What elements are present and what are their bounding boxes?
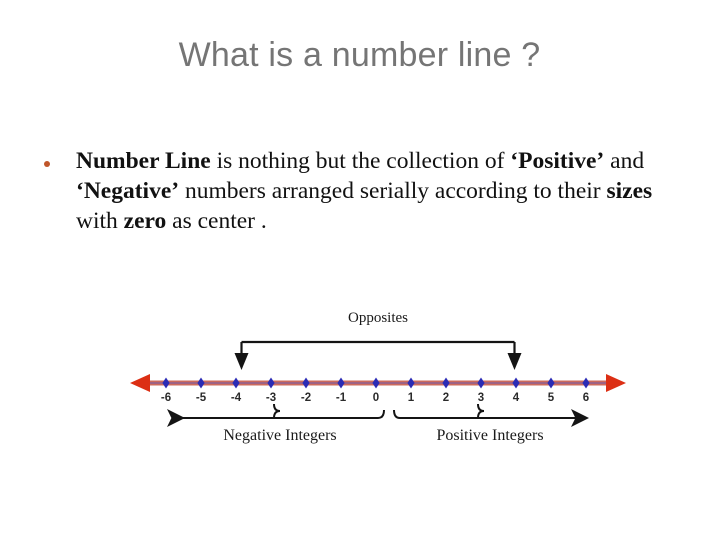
tick-marker bbox=[197, 378, 204, 389]
tick-label: 5 bbox=[548, 392, 555, 404]
text-run: with bbox=[76, 208, 124, 234]
opposites-annotation: Opposites bbox=[235, 310, 522, 370]
number-line-figure: Opposites -6-5-4-3-2-10123456 bbox=[128, 300, 628, 460]
tick-label: -2 bbox=[301, 392, 311, 404]
tick-label: -3 bbox=[266, 392, 276, 404]
emphasis-run: zero bbox=[124, 208, 167, 234]
negative-integers-label: Negative Integers bbox=[223, 427, 336, 444]
tick-label: -1 bbox=[336, 392, 347, 404]
tick-marker bbox=[407, 378, 414, 389]
positive-brace-notch bbox=[478, 404, 484, 418]
axis-right-arrowhead-icon bbox=[606, 374, 626, 392]
axis-left-arrowhead-icon bbox=[130, 374, 150, 392]
tick-label: 1 bbox=[408, 392, 415, 404]
positive-integers-annotation: Positive Integers bbox=[394, 404, 580, 444]
emphasis-run: Number Line bbox=[76, 148, 211, 174]
tick-marker bbox=[337, 378, 344, 389]
opposites-label: Opposites bbox=[348, 310, 408, 326]
tick-marker bbox=[267, 378, 274, 389]
bullet-dot-icon bbox=[44, 161, 50, 167]
tick-label: 3 bbox=[478, 392, 484, 404]
negative-integers-annotation: Negative Integers bbox=[176, 404, 384, 444]
text-run: is nothing but the collection of bbox=[211, 148, 511, 174]
tick-label: 0 bbox=[373, 392, 379, 404]
tick-marker bbox=[372, 378, 379, 389]
tick-marker bbox=[442, 378, 449, 389]
emphasis-run: ‘Positive’ bbox=[510, 148, 604, 174]
opposites-left-arrowhead-icon bbox=[235, 353, 249, 370]
positive-brace-end-curl bbox=[394, 410, 400, 418]
emphasis-run: sizes bbox=[607, 178, 653, 204]
emphasis-run: ‘Negative’ bbox=[76, 178, 179, 204]
tick-label: -5 bbox=[196, 392, 207, 404]
tick-marker bbox=[477, 378, 484, 389]
tick-marker bbox=[162, 378, 169, 389]
tick-label: -6 bbox=[161, 392, 171, 404]
page-title: What is a number line ? bbox=[0, 36, 719, 75]
tick-marker bbox=[582, 378, 589, 389]
tick-marker bbox=[232, 378, 239, 389]
tick-marker bbox=[547, 378, 554, 389]
list-item: Number Line is nothing but the collectio… bbox=[40, 146, 670, 236]
tick-label: 6 bbox=[583, 392, 589, 404]
positive-integers-label: Positive Integers bbox=[436, 427, 543, 444]
negative-brace-end-curl bbox=[378, 410, 384, 418]
negative-brace-notch bbox=[274, 404, 280, 418]
tick-marker bbox=[512, 378, 519, 389]
slide-canvas: What is a number line ? Number Line is n… bbox=[0, 0, 719, 544]
text-run: numbers arranged serially according to t… bbox=[179, 178, 606, 204]
tick-marker bbox=[302, 378, 309, 389]
text-run: as center . bbox=[166, 208, 266, 234]
tick-label: -4 bbox=[231, 392, 242, 404]
text-run: and bbox=[604, 148, 644, 174]
bullet-paragraph: Number Line is nothing but the collectio… bbox=[76, 148, 652, 234]
body-content: Number Line is nothing but the collectio… bbox=[40, 146, 670, 236]
opposites-right-arrowhead-icon bbox=[508, 353, 522, 370]
tick-label: 2 bbox=[443, 392, 449, 404]
tick-label: 4 bbox=[513, 392, 520, 404]
